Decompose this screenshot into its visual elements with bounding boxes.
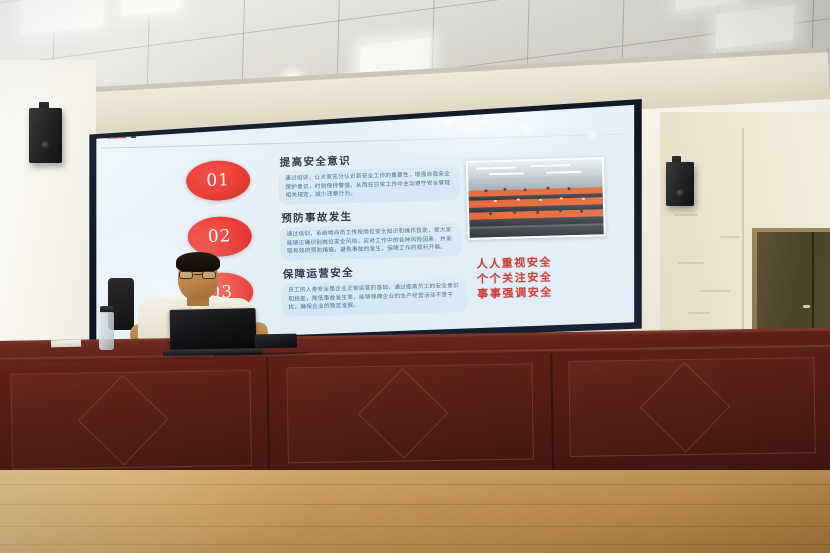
photo-helmet bbox=[538, 198, 541, 200]
door-handle-icon[interactable] bbox=[803, 305, 810, 308]
documents bbox=[51, 340, 81, 348]
photo-helmet bbox=[581, 197, 584, 199]
section-body-1: 通过培训，让大家充分认识到安全工作的重要性，增强自我安全保护意识，时刻保持警惕，… bbox=[278, 166, 461, 205]
eyeglasses-icon bbox=[179, 271, 217, 279]
podium-seam bbox=[266, 358, 270, 488]
photo-desk-row bbox=[466, 225, 606, 238]
photo-person-head bbox=[489, 212, 492, 215]
speaker-cone-icon bbox=[41, 141, 50, 150]
training-room-scene: 培训目的 01 02 03 提高安全意识 通过培训，让大家充分认识到安全工作的重… bbox=[0, 0, 830, 553]
training-audience-photo bbox=[466, 157, 606, 240]
screen-reflection bbox=[588, 132, 597, 138]
slogan-line-2: 个个关注安全 bbox=[477, 270, 553, 287]
wall-speaker-right bbox=[666, 162, 694, 206]
wall-mark bbox=[720, 236, 740, 238]
lens-left bbox=[179, 271, 193, 279]
speaker-cone-icon bbox=[676, 189, 685, 198]
wall-mark bbox=[688, 312, 710, 314]
photo-person-head bbox=[536, 210, 539, 213]
section-heading-2: 预防事故发生 bbox=[281, 209, 353, 226]
wall-mark bbox=[674, 214, 698, 216]
section-heading-3: 保障运营安全 bbox=[283, 265, 355, 282]
photo-person-head bbox=[513, 210, 516, 213]
photo-helmet bbox=[560, 197, 563, 199]
screen-reflection bbox=[522, 126, 531, 132]
slide-slogan: 人人重视安全 个个关注安全 事事强调安全 bbox=[476, 256, 553, 303]
wall-speaker-left bbox=[29, 108, 62, 163]
step-badge-01: 01 bbox=[186, 160, 251, 202]
section-body-2: 通过培训，系统地向员工传授岗位安全知识和操作技能，使大家能够正确识别岗位安全风险… bbox=[279, 222, 462, 261]
section-heading-1: 提高安全意识 bbox=[280, 153, 352, 170]
wall-mark bbox=[700, 290, 730, 292]
badge-number: 02 bbox=[208, 226, 232, 247]
photo-person-head bbox=[523, 188, 526, 191]
water-bottle bbox=[99, 312, 114, 350]
lens-right bbox=[202, 271, 216, 279]
photo-person-head bbox=[559, 209, 562, 212]
laptop-computer[interactable] bbox=[170, 308, 257, 354]
section-body-3: 员工的人身安全是企业正常运营的基础，通过提高员工的安全意识和技能，降低事故发生率… bbox=[281, 278, 468, 317]
floor-sheen bbox=[0, 470, 830, 553]
photo-helmet bbox=[517, 198, 520, 200]
screen-reflection bbox=[444, 118, 453, 124]
second-device[interactable] bbox=[255, 334, 297, 349]
slogan-line-3: 事事强调安全 bbox=[477, 285, 553, 302]
photo-person-head bbox=[580, 209, 583, 212]
podium-seam bbox=[550, 353, 554, 483]
presenter-hair bbox=[176, 252, 220, 272]
glasses-bridge bbox=[194, 274, 202, 275]
wall-mark bbox=[678, 262, 704, 264]
wood-floor bbox=[0, 470, 830, 553]
badge-number: 01 bbox=[206, 170, 230, 191]
